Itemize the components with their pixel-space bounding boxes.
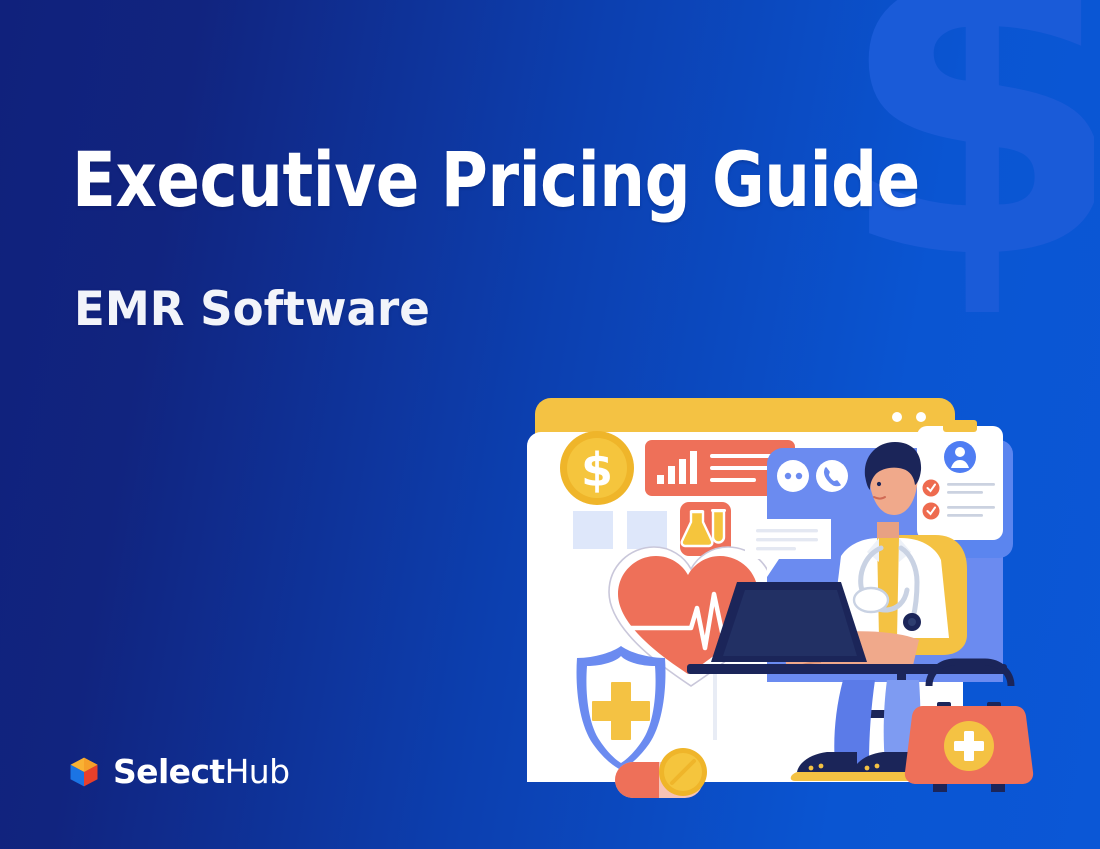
page-title: Executive Pricing Guide [72,133,920,227]
more-dots-icon [777,460,809,492]
logo-word-hub: Hub [225,752,290,791]
logo-word-select: Select [113,752,225,791]
selecthub-wordmark: SelectHub [113,752,289,791]
emr-telehealth-illustration: $ [505,380,1050,810]
check-icon [923,480,940,497]
check-icon [923,503,940,520]
svg-text:$: $ [581,443,613,497]
dollar-coin-icon: $ [560,431,634,505]
selecthub-logo: SelectHub [66,752,289,791]
phone-call-icon [816,460,848,492]
tablet-coin-icon [659,748,707,796]
page-subtitle: EMR Software [74,281,430,339]
placeholder-square [627,511,667,549]
placeholder-square [573,511,613,549]
cover-page: $ Executive Pricing Guide EMR Software S… [0,0,1100,849]
laptop-icon [711,582,867,662]
selecthub-cube-logo [66,754,102,790]
